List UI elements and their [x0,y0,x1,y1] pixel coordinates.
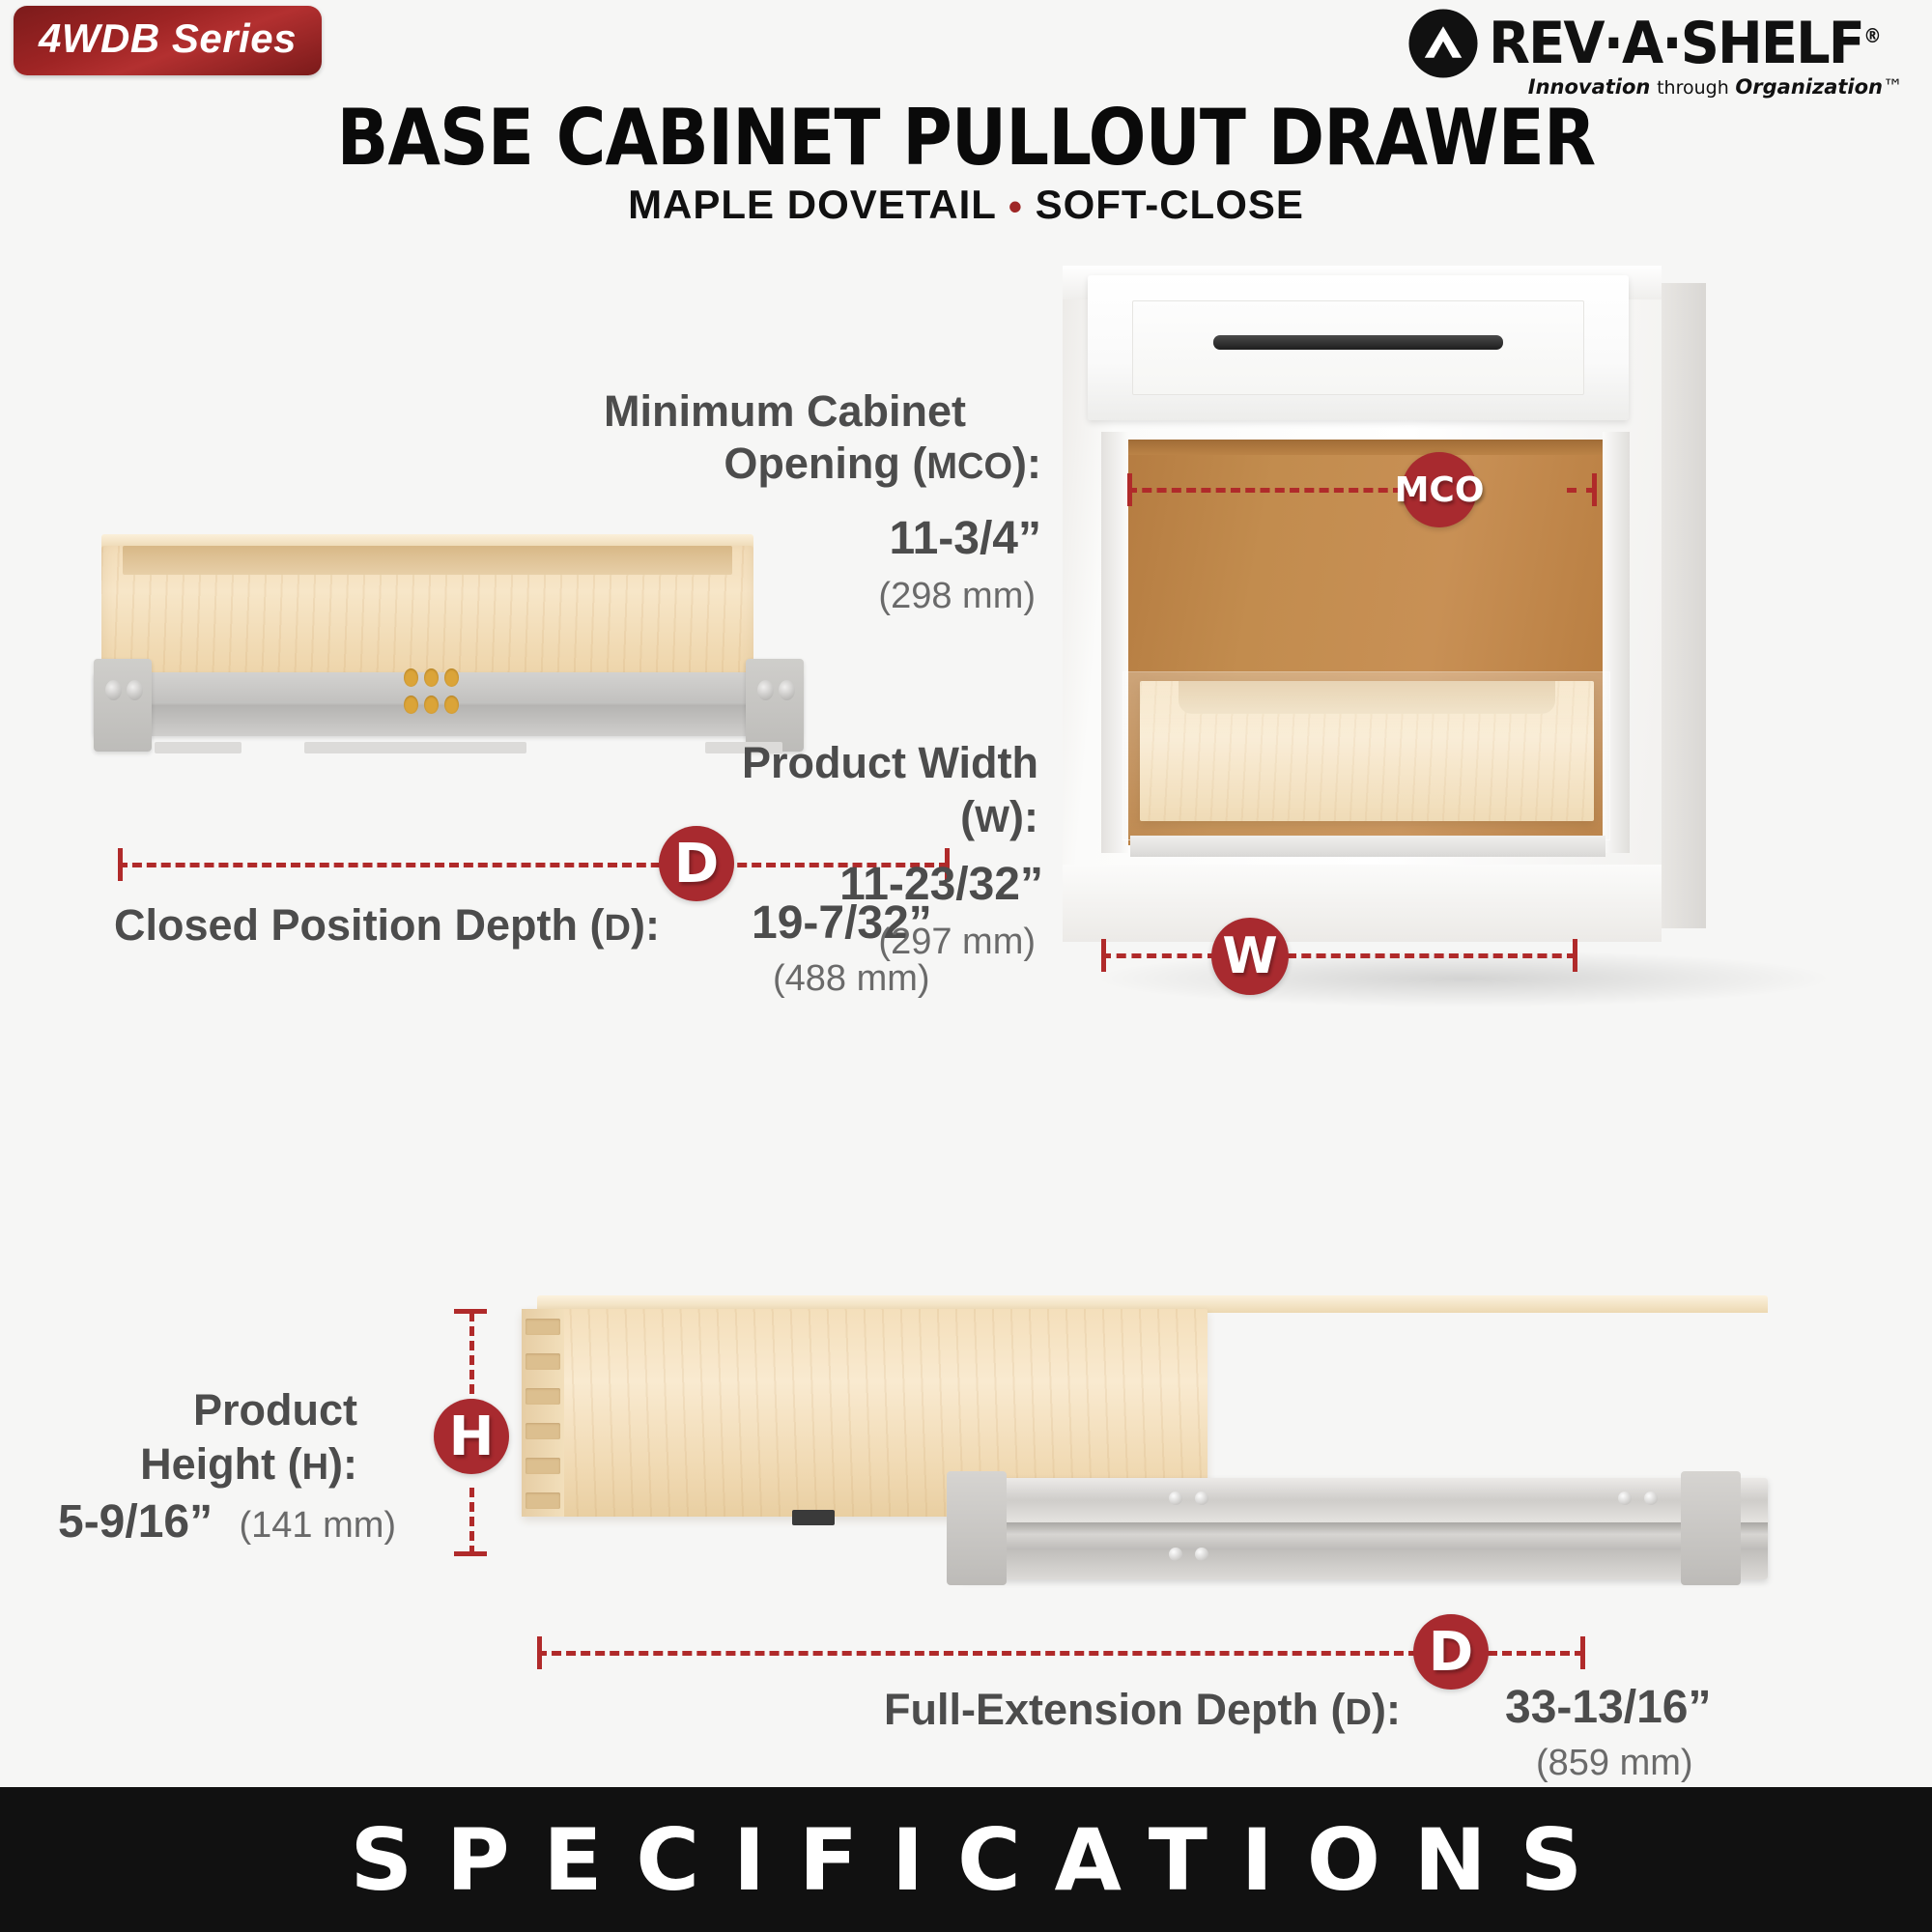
badge-label: MCO [1395,470,1485,510]
drawer-foot-left [155,742,241,753]
drawer-handle [1213,335,1503,350]
full-depth-metric: (859 mm) [1536,1743,1693,1784]
mco-code: MCO [926,446,1012,487]
screw-icon [757,680,774,700]
slide-endcap-right [1681,1471,1741,1585]
rail-hole-icon [444,696,459,714]
full-depth-label-text: Full-Extension Depth ( [884,1685,1346,1734]
screw-icon [779,680,795,700]
slide-rivet-icon [1169,1492,1182,1505]
slide-groove [961,1522,1768,1534]
rev-a-shelf-mark-icon [1407,8,1479,79]
width-dimension-line-left [1101,953,1217,958]
rail-hole-group [401,667,465,721]
rail-hole-icon [404,668,418,687]
width-label-pre: ( [960,792,975,841]
mco-label-pre: Opening ( [724,439,926,488]
closed-depth-dimension-line [118,863,949,867]
mco-dimension-line-left [1127,488,1403,493]
height-dimension-line-bottom [469,1488,474,1555]
badge-w: W [1211,918,1289,995]
height-dimension-line-top [469,1312,474,1408]
badge-label: H [449,1406,495,1468]
logo-wordmark: REV·A·SHELF® [1489,16,1880,71]
width-dimension-line-right [1287,953,1577,958]
width-metric: (297 mm) [878,922,1036,963]
rail-hole-icon [404,696,418,714]
full-depth-label: Full-Extension Depth (D): [884,1683,1401,1737]
height-metric: (141 mm) [239,1505,396,1546]
badge-label: D [1429,1621,1473,1684]
cabinet-shadow [1092,950,1835,1008]
dovetail-pin-icon [526,1388,560,1405]
full-depth-dimension-line-left [537,1651,1418,1656]
slide-rivet-icon [1169,1548,1182,1561]
page-subtitle: MAPLE DOVETAIL • SOFT-CLOSE [0,182,1932,229]
cabinet-opening-top-edge [1126,440,1605,455]
subtitle-right: SOFT-CLOSE [1036,182,1304,227]
mco-tick-right [1592,473,1597,506]
closed-depth-metric: (488 mm) [773,958,930,1000]
mco-label-line2: Opening (MCO): [724,437,1041,491]
mco-value: 11-3/4” [890,512,1041,565]
closed-depth-label: Closed Position Depth (D): [114,898,660,952]
page-title: BASE CABINET PULLOUT DRAWER [116,93,1816,183]
soft-close-stop [792,1510,835,1525]
badge-d-closed-depth: D [659,826,734,901]
pullout-slide-bar [1130,836,1605,857]
height-code: H [302,1447,328,1488]
dovetail-joint [522,1309,564,1517]
slide-rivet-icon [1195,1548,1208,1561]
pullout-drawer-highlight [1122,671,1610,840]
dovetail-pin-icon [526,1492,560,1509]
drawer-side-view-photo [522,1309,1768,1589]
height-label-pre: Height ( [140,1439,301,1489]
cabinet-photo [1063,266,1816,990]
rail-hole-icon [444,668,459,687]
height-value: 5-9/16” [58,1496,213,1548]
mco-label-line1: Minimum Cabinet [604,384,966,439]
cabinet-toe-kick [1063,865,1662,942]
cabinet-side-panel [1662,283,1706,928]
dovetail-pin-icon [526,1423,560,1439]
width-label-line1: Product Width [742,736,1038,790]
height-label-line2: Height (H): [140,1437,357,1492]
registered-mark: ® [1863,24,1880,47]
slide-rivet-icon [1644,1492,1658,1505]
drawer-front-photo [101,546,753,753]
full-depth-label-end: ): [1372,1685,1401,1734]
closed-depth-label-text: Closed Position Depth ( [114,900,605,950]
drawer-interior [123,546,732,575]
mco-label-post: ): [1012,439,1041,488]
badge-d-full-depth: D [1413,1614,1489,1690]
trademark-mark: ™ [1883,75,1903,99]
screw-icon [127,680,143,700]
dovetail-pin-icon [526,1353,560,1370]
logo-row: REV·A·SHELF® [1407,8,1909,79]
footer-bar: SPECIFICATIONS [0,1787,1932,1932]
width-value: 11-23/32” [839,858,1043,911]
drawer-foot-center [304,742,526,753]
screw-icon [105,680,122,700]
closed-depth-code: D [605,908,631,949]
brand-logo: REV·A·SHELF® Innovation through Organiza… [1407,8,1909,99]
bullet-separator-icon: • [1009,185,1023,228]
width-code: W [975,800,1009,840]
rail-hole-icon [424,696,439,714]
closed-depth-label-end: ): [631,900,660,950]
full-depth-code: D [1346,1692,1372,1733]
series-badge: 4WDB Series [14,6,322,75]
full-depth-tick-right [1580,1636,1585,1669]
rail-hole-icon [424,668,439,687]
height-value-row: 5-9/16” (141 mm) [58,1495,396,1548]
full-extension-slide [961,1478,1768,1579]
height-label-post: ): [328,1439,357,1489]
cabinet-drawer-front [1088,275,1629,420]
footer-title: SPECIFICATIONS [316,1810,1615,1910]
badge-label: D [674,833,719,895]
dovetail-pin-icon [526,1319,560,1335]
full-depth-value: 33-13/16” [1505,1681,1712,1734]
mco-metric: (298 mm) [878,576,1036,617]
dovetail-pin-icon [526,1458,560,1474]
height-tick-bottom [454,1551,487,1556]
slide-rivet-icon [1195,1492,1208,1505]
badge-mco: MCO [1402,452,1477,527]
width-label-post: ): [1009,792,1038,841]
height-label-line1: Product [193,1383,357,1437]
width-tick-right [1573,939,1577,972]
subtitle-left: MAPLE DOVETAIL [628,182,996,227]
badge-label: W [1222,927,1277,985]
slide-rivet-icon [1618,1492,1632,1505]
full-depth-dimension-line-right [1488,1651,1584,1656]
badge-h: H [434,1399,509,1474]
slide-endcap-left [947,1471,1007,1585]
drawer-bracket-left [94,659,152,752]
width-label-line2: (W): [960,790,1038,844]
